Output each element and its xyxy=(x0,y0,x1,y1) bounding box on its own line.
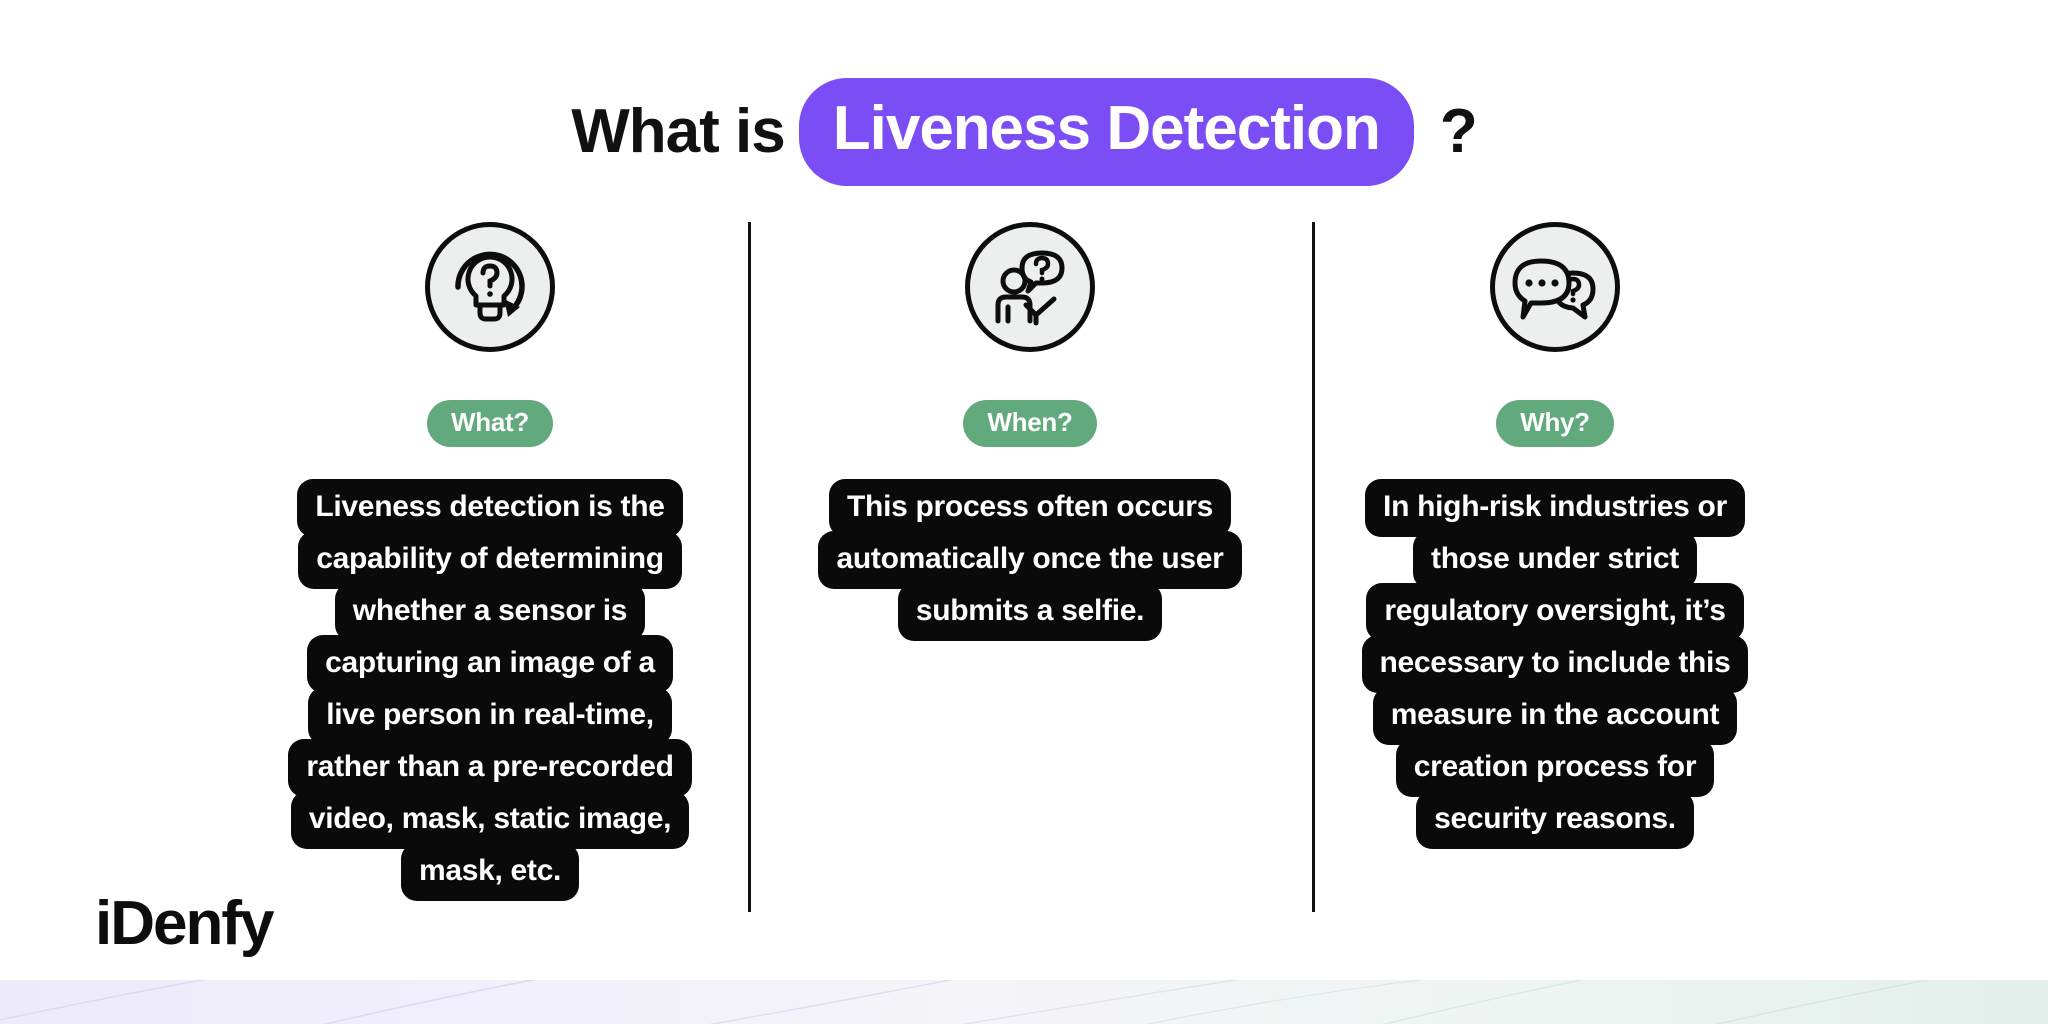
column-when: When? This process often occurs automati… xyxy=(795,222,1265,635)
lightbulb-question-refresh-icon xyxy=(425,222,555,352)
text-line: live person in real-time, xyxy=(308,687,672,745)
title-prefix: What is xyxy=(571,101,784,163)
text-line: creation process for xyxy=(1396,739,1714,797)
text-line: whether a sensor is xyxy=(335,583,645,641)
column-what: What? Liveness detection is the capabili… xyxy=(255,222,725,895)
infographic-canvas: What is Liveness Detection ? What? xyxy=(0,0,2048,1024)
badge-what: What? xyxy=(427,400,553,447)
text-block-when: This process often occurs automatically … xyxy=(795,479,1265,635)
column-divider-2 xyxy=(1312,222,1315,912)
person-question-bubble-icon xyxy=(965,222,1095,352)
bottom-decor-strip xyxy=(0,980,2048,1024)
text-line: rather than a pre-recorded xyxy=(288,739,691,797)
text-line: In high-risk industries or xyxy=(1365,479,1745,537)
text-block-why: In high-risk industries or those under s… xyxy=(1320,479,1790,843)
title-highlight-text: Liveness Detection xyxy=(833,98,1380,160)
text-line: capability of determining xyxy=(298,531,682,589)
idenfy-logo-text: iDenfy xyxy=(95,890,275,958)
text-line: measure in the account xyxy=(1373,687,1738,745)
text-line: This process often occurs xyxy=(829,479,1231,537)
column-divider-1 xyxy=(748,222,751,912)
text-line: submits a selfie. xyxy=(898,583,1162,641)
text-line: those under strict xyxy=(1413,531,1697,589)
text-line: security reasons. xyxy=(1416,791,1694,849)
chat-bubbles-question-icon xyxy=(1490,222,1620,352)
page-title: What is Liveness Detection ? xyxy=(0,78,2048,186)
idenfy-logo: iDenfy xyxy=(95,890,325,960)
text-line: necessary to include this xyxy=(1362,635,1749,693)
text-line: capturing an image of a xyxy=(307,635,673,693)
title-suffix: ? xyxy=(1440,101,1477,163)
text-line: regulatory oversight, it’s xyxy=(1366,583,1743,641)
text-line: mask, etc. xyxy=(401,843,579,901)
text-line: automatically once the user xyxy=(818,531,1241,589)
title-highlight-pill: Liveness Detection xyxy=(799,78,1414,186)
column-why: Why? In high-risk industries or those un… xyxy=(1320,222,1790,843)
badge-when: When? xyxy=(963,400,1096,447)
badge-why: Why? xyxy=(1496,400,1614,447)
text-line: video, mask, static image, xyxy=(291,791,689,849)
text-block-what: Liveness detection is the capability of … xyxy=(255,479,725,895)
text-line: Liveness detection is the xyxy=(297,479,682,537)
